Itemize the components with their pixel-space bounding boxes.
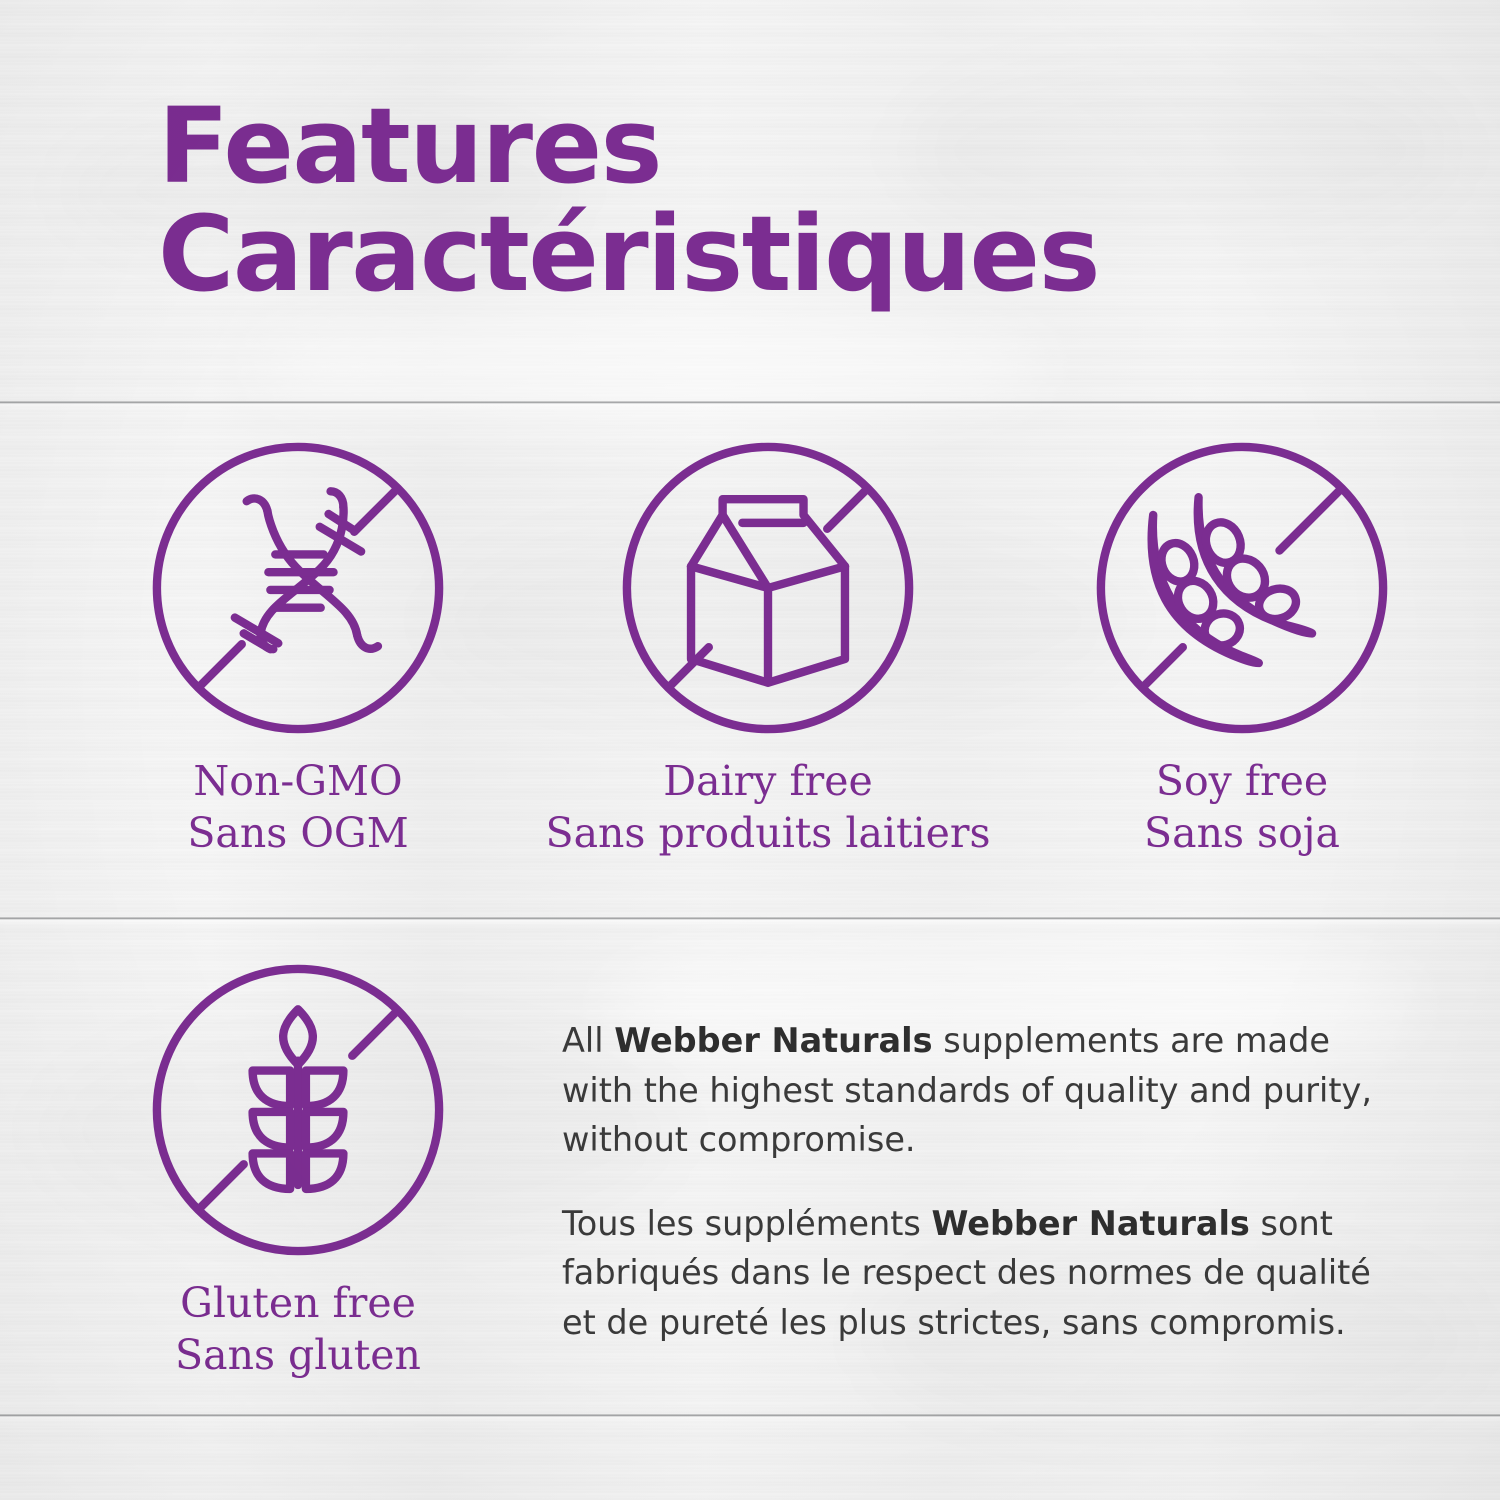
feature-label-non-gmo-en: Non-GMO <box>193 757 402 805</box>
feature-label-gluten-free-en: Gluten free <box>180 1279 416 1327</box>
feature-non-gmo: Non-GMO Sans OGM <box>148 440 448 859</box>
dna-no-icon <box>150 440 446 736</box>
plank-seam <box>0 401 1500 404</box>
brand-name-fr: Webber Naturals <box>931 1204 1249 1243</box>
brand-name-en: Webber Naturals <box>614 1021 932 1060</box>
feature-label-gluten-free: Gluten free Sans gluten <box>175 1278 421 1381</box>
body-paragraph-en: All Webber Naturals supplements are made… <box>562 1016 1372 1165</box>
feature-dairy-free: Dairy free Sans produits laitiers <box>618 440 918 859</box>
page-title: Features Caractéristiques <box>158 96 1099 312</box>
feature-label-non-gmo-fr: Sans OGM <box>187 808 408 860</box>
milk-carton-no-icon <box>620 440 916 736</box>
feature-label-dairy-free: Dairy free Sans produits laitiers <box>546 756 991 859</box>
feature-label-soy-free-fr: Sans soja <box>1144 808 1340 860</box>
body-fr-before: Tous les suppléments <box>562 1204 931 1243</box>
feature-label-dairy-free-fr: Sans produits laitiers <box>546 808 991 860</box>
wheat-no-icon <box>150 962 446 1258</box>
body-en-before: All <box>562 1021 614 1060</box>
page-title-en: Features <box>158 96 1099 198</box>
feature-label-dairy-free-en: Dairy free <box>663 757 873 805</box>
plank-seam <box>0 1414 1500 1417</box>
feature-soy-free: Soy free Sans soja <box>1092 440 1392 859</box>
feature-gluten-free: Gluten free Sans gluten <box>148 962 448 1381</box>
plank-seam <box>0 917 1500 920</box>
feature-panel: Features Caractéristiques <box>0 0 1500 1500</box>
body-copy: All Webber Naturals supplements are made… <box>562 1016 1372 1347</box>
feature-label-gluten-free-fr: Sans gluten <box>175 1330 421 1382</box>
pea-pod-no-icon <box>1094 440 1390 736</box>
body-paragraph-fr: Tous les suppléments Webber Naturals son… <box>562 1199 1372 1348</box>
feature-label-soy-free-en: Soy free <box>1156 757 1328 805</box>
page-title-fr: Caractéristiques <box>158 204 1099 306</box>
feature-label-non-gmo: Non-GMO Sans OGM <box>187 756 408 859</box>
feature-label-soy-free: Soy free Sans soja <box>1144 756 1340 859</box>
